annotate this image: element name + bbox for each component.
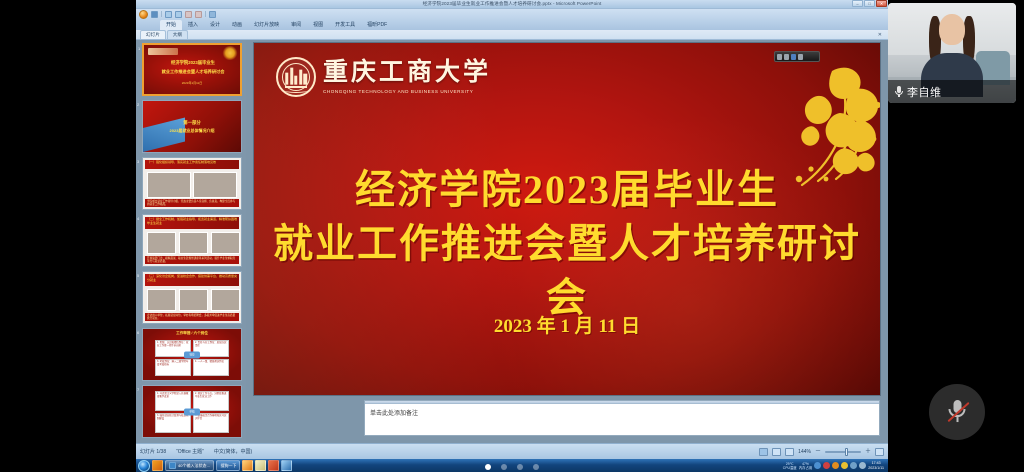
redo-icon[interactable] [175,11,182,18]
thumb-photo-caption: 走访用人单位，拓展就业岗位，举办专场招聘会，多措并举促进毕业生高质量充分就业。 [145,313,239,321]
participant-video-tile[interactable]: 李自维 [888,3,1016,103]
thumb-photo-title: （一）强化组织领导，落实就业工作责任制落地见效 [145,160,239,169]
maximize-button[interactable]: □ [864,0,875,7]
thumbnail-slide-5[interactable]: 5 （三）深化访企拓岗，促进校企合作，搭建供需平台，推动高质量充分就业 走访用人… [142,271,242,324]
powerpoint-window: 经济学院2023届毕业生就业工作推进会暨人才培养研讨会.pptx - Micro… [136,0,888,472]
slide-title-line1: 经济学院2023届毕业生 [254,163,880,217]
photo-placeholder [179,289,208,311]
zoom-slider[interactable] [825,451,861,453]
ribbon-tab-slideshow[interactable]: 幻灯片放映 [248,20,285,30]
participant-face [939,14,965,45]
window-title-bar: 经济学院2023届毕业生就业工作推进会暨人才培养研讨会.pptx - Micro… [136,0,888,9]
thumb-photo-caption: 开展简历门诊、模拟面试、职业生涯规划讲座等系列活动，提升毕业生求职竞争力与就业质… [145,256,239,264]
thumbnail-number: 2 [137,102,139,107]
photo-placeholder [211,289,240,311]
status-bar: 幻灯片 1/38 “Office 主题” 中文(简体，中国) 144% － ＋ [136,443,888,459]
current-slide[interactable]: 重庆工商大学 CHONGQING TECHNOLOGY AND BUSINESS… [254,43,880,395]
thumbnail-content: 1. 马克思主义学院深入开展教育教学改革 2. 抓实工作节点，分阶段推进毕业生就… [143,386,241,437]
toolbar-icon-3[interactable] [791,54,796,60]
diagram-cell: 3. 考核到位：纳入二级学院年度考核指标 [155,359,191,376]
outline-panel-tabs: 幻灯片 大纲 ✕ [136,30,888,40]
photo-placeholder [147,172,191,198]
thumbnail-number: 6 [137,330,139,335]
thumb-diagram-title: 工作举措 / 六个到位 [143,331,241,336]
microphone-muted-icon [949,400,966,423]
thumbnail-number: 7 [137,387,139,392]
crest-building-bars [285,68,307,85]
screen-root: 经济学院2023届毕业生就业工作推进会暨人才培养研讨会.pptx - Micro… [0,0,1024,472]
ribbon-tab-insert[interactable]: 插入 [182,20,204,30]
close-button[interactable]: ✕ [876,0,887,7]
slide-title: 经济学院2023届毕业生 就业工作推进会暨人才培养研讨会 [254,163,880,325]
zoom-out-button[interactable]: － [815,449,821,455]
view-slide-sorter-button[interactable] [772,448,781,456]
photo-placeholder [147,232,176,254]
diagram-cell: 4. 一人一策、精准帮扶到位 [193,359,229,376]
slide-title-line2: 就业工作推进会暨人才培养研讨会 [254,217,880,325]
outline-panel-close-icon[interactable]: ✕ [878,32,884,38]
thumbnail-content: （一）强化组织领导，落实就业工作责任制落地见效 学院成立就业工作领导小组，党政主… [143,158,241,209]
thumbnail-content: 工作举措 / 六个到位 1. 思想、认识和摆位到位：就业工作要一把手亲自抓 2.… [143,329,241,380]
zoom-in-button[interactable]: ＋ [865,449,871,455]
photo-placeholder [147,289,176,311]
ribbon-tab-view[interactable]: 视图 [307,20,329,30]
ribbon-tab-foxit-pdf[interactable]: 福昕PDF [361,20,393,30]
window-title: 经济学院2023届毕业生就业工作推进会暨人才培养研讨会.pptx - Micro… [423,1,602,7]
status-bar-right: 144% － ＋ [759,448,884,456]
outline-tab-outline[interactable]: 大纲 [167,30,188,39]
view-normal-button[interactable] [759,448,768,456]
slide-stage: 重庆工商大学 CHONGQING TECHNOLOGY AND BUSINESS… [246,40,888,443]
page-dot-1[interactable] [485,464,491,470]
minimize-button[interactable]: – [852,0,863,7]
ribbon-tab-animations[interactable]: 动画 [226,20,248,30]
thumb-title-line1: 经济学院2023届毕业生 [149,60,237,66]
university-name-block: 重庆工商大学 CHONGQING TECHNOLOGY AND BUSINESS… [323,60,491,93]
zoom-level: 144% [798,449,811,455]
thumbnail-slide-1[interactable]: 1 经济学院2023届毕业生 就业工作推进会暨人才培养研讨会 2023年1月11… [142,43,242,96]
ribbon-tab-review[interactable]: 审阅 [285,20,307,30]
thumbnail-content: （二）健全工作机制，加强就业指导，拓宽就业渠道，精准帮扶困难毕业生就业 开展简历… [143,215,241,266]
notes-placeholder[interactable]: 单击此处添加备注 [365,404,879,421]
flower-decor-icon [222,46,238,60]
thumb-title-line2: 就业工作推进会暨人才培养研讨会 [149,69,237,75]
thumb-photo-title: （二）健全工作机制，加强就业指导，拓宽就业渠道，精准帮扶困难毕业生就业 [145,217,239,229]
customize-toolbar-icon[interactable] [209,11,216,18]
window-controls: – □ ✕ [852,0,887,7]
thumbnail-slide-2[interactable]: 2 第一部分 2023届就业总体情况介绍 [142,100,242,153]
fit-to-window-button[interactable] [875,448,884,456]
page-indicator-dots[interactable] [136,464,888,470]
thumbnail-slide-7[interactable]: 7 1. 马克思主义学院深入开展教育教学改革 2. 抓实工作节点，分阶段推进毕业… [142,385,242,438]
university-logo: 重庆工商大学 CHONGQING TECHNOLOGY AND BUSINESS… [276,57,491,97]
diagram-hub: 举措 [184,408,200,415]
thumbnail-content: 经济学院2023届毕业生 就业工作推进会暨人才培养研讨会 2023年1月11日 [144,45,240,94]
ribbon-tab-developer[interactable]: 开发工具 [329,20,361,30]
university-crest-icon [276,57,316,97]
quick-access-toolbar [136,9,888,19]
thumbnail-content: （三）深化访企拓岗，促进校企合作，搭建供需平台，推动高质量充分就业 走访用人单位… [143,272,241,323]
notes-pane[interactable]: 单击此处添加备注 [364,400,880,436]
close-icon-1[interactable] [185,11,192,18]
thumb-photo-title: （三）深化访企拓岗，促进校企合作，搭建供需平台，推动高质量充分就业 [145,274,239,286]
thumbnail-slide-4[interactable]: 4 （二）健全工作机制，加强就业指导，拓宽就业渠道，精准帮扶困难毕业生就业 开展… [142,214,242,267]
ribbon-tab-home[interactable]: 开始 [160,20,182,30]
diagram-hub: 到位 [184,351,200,358]
slide-date: 2023 年 1 月 11 日 [254,311,880,338]
close-icon-2[interactable] [195,11,202,18]
diagram-grid: 1. 思想、认识和摆位到位：就业工作要一把手亲自抓 2. 责任与分工到位：层层压… [155,340,229,376]
mute-microphone-button[interactable] [929,384,985,440]
thumb-photo-caption: 学院成立就业工作领导小组，党政主要负责人亲自抓、负总责，构建全员参与的就业工作格… [145,199,239,207]
crest-arc [284,88,308,93]
theme-name[interactable]: “Office 主题” [176,448,204,455]
page-dot-4[interactable] [533,464,539,470]
university-name-cn: 重庆工商大学 [323,60,491,86]
microphone-icon [895,86,903,97]
view-slideshow-button[interactable] [785,448,794,456]
university-name-en: CHONGQING TECHNOLOGY AND BUSINESS UNIVER… [323,89,491,94]
outline-tab-slides[interactable]: 幻灯片 [140,30,166,39]
toolbar-icon-2[interactable] [784,54,789,60]
university-logo [148,48,178,55]
ribbon-tab-design[interactable]: 设计 [204,20,226,30]
toolbar-icon-1[interactable] [777,54,782,60]
participant-nameplate: 李自维 [888,80,1016,103]
participant-name: 李自维 [907,84,942,100]
work-area: 1 经济学院2023届毕业生 就业工作推进会暨人才培养研讨会 2023年1月11… [136,40,888,443]
floating-toolbar-overlay[interactable] [774,51,820,62]
thumbnail-slide-3[interactable]: 3 （一）强化组织领导，落实就业工作责任制落地见效 学院成立就业工作领导小组，党… [142,157,242,210]
toolbar-icon-4[interactable] [798,54,803,60]
thumbnail-number: 1 [138,46,140,51]
toolbar-separator [161,11,162,17]
photo-placeholder [193,172,237,198]
photo-placeholder [179,232,208,254]
toolbar-separator-2 [205,11,206,17]
zoom-slider-handle[interactable] [845,448,848,456]
outline-tab-group: 幻灯片 大纲 [140,30,188,39]
thumb-section-line2: 2023届就业总体情况介绍 [143,128,241,134]
save-icon[interactable] [151,11,158,18]
thumbnail-number: 3 [137,159,139,164]
page-dot-3[interactable] [517,464,523,470]
thumbnail-slide-6[interactable]: 6 工作举措 / 六个到位 1. 思想、认识和摆位到位：就业工作要一把手亲自抓 … [142,328,242,381]
diagram-cell: 3. 强化就业统计监测与核查机制建设 [155,413,191,433]
thumbnail-number: 4 [137,216,139,221]
thumb-section-line1: 第一部分 [143,120,241,126]
thumbnail-number: 5 [137,273,139,278]
office-button[interactable] [139,10,148,19]
page-dot-2[interactable] [501,464,507,470]
undo-icon[interactable] [165,11,172,18]
thumbnail-content: 第一部分 2023届就业总体情况介绍 [143,101,241,152]
slide-counter: 幻灯片 1/38 [140,448,166,455]
diagram-cell: 4. 建强校企合作基地和实习实训平台 [193,413,229,433]
photo-placeholder [211,232,240,254]
ribbon-tab-bar: 开始 插入 设计 动画 幻灯片放映 审阅 视图 开发工具 福昕PDF [136,19,888,30]
thumb-date: 2023年1月11日 [144,81,240,85]
language-indicator[interactable]: 中文(简体，中国) [214,448,252,455]
slide-canvas: 重庆工商大学 CHONGQING TECHNOLOGY AND BUSINESS… [254,43,880,395]
slide-thumbnail-panel[interactable]: 1 经济学院2023届毕业生 就业工作推进会暨人才培养研讨会 2023年1月11… [136,40,246,443]
